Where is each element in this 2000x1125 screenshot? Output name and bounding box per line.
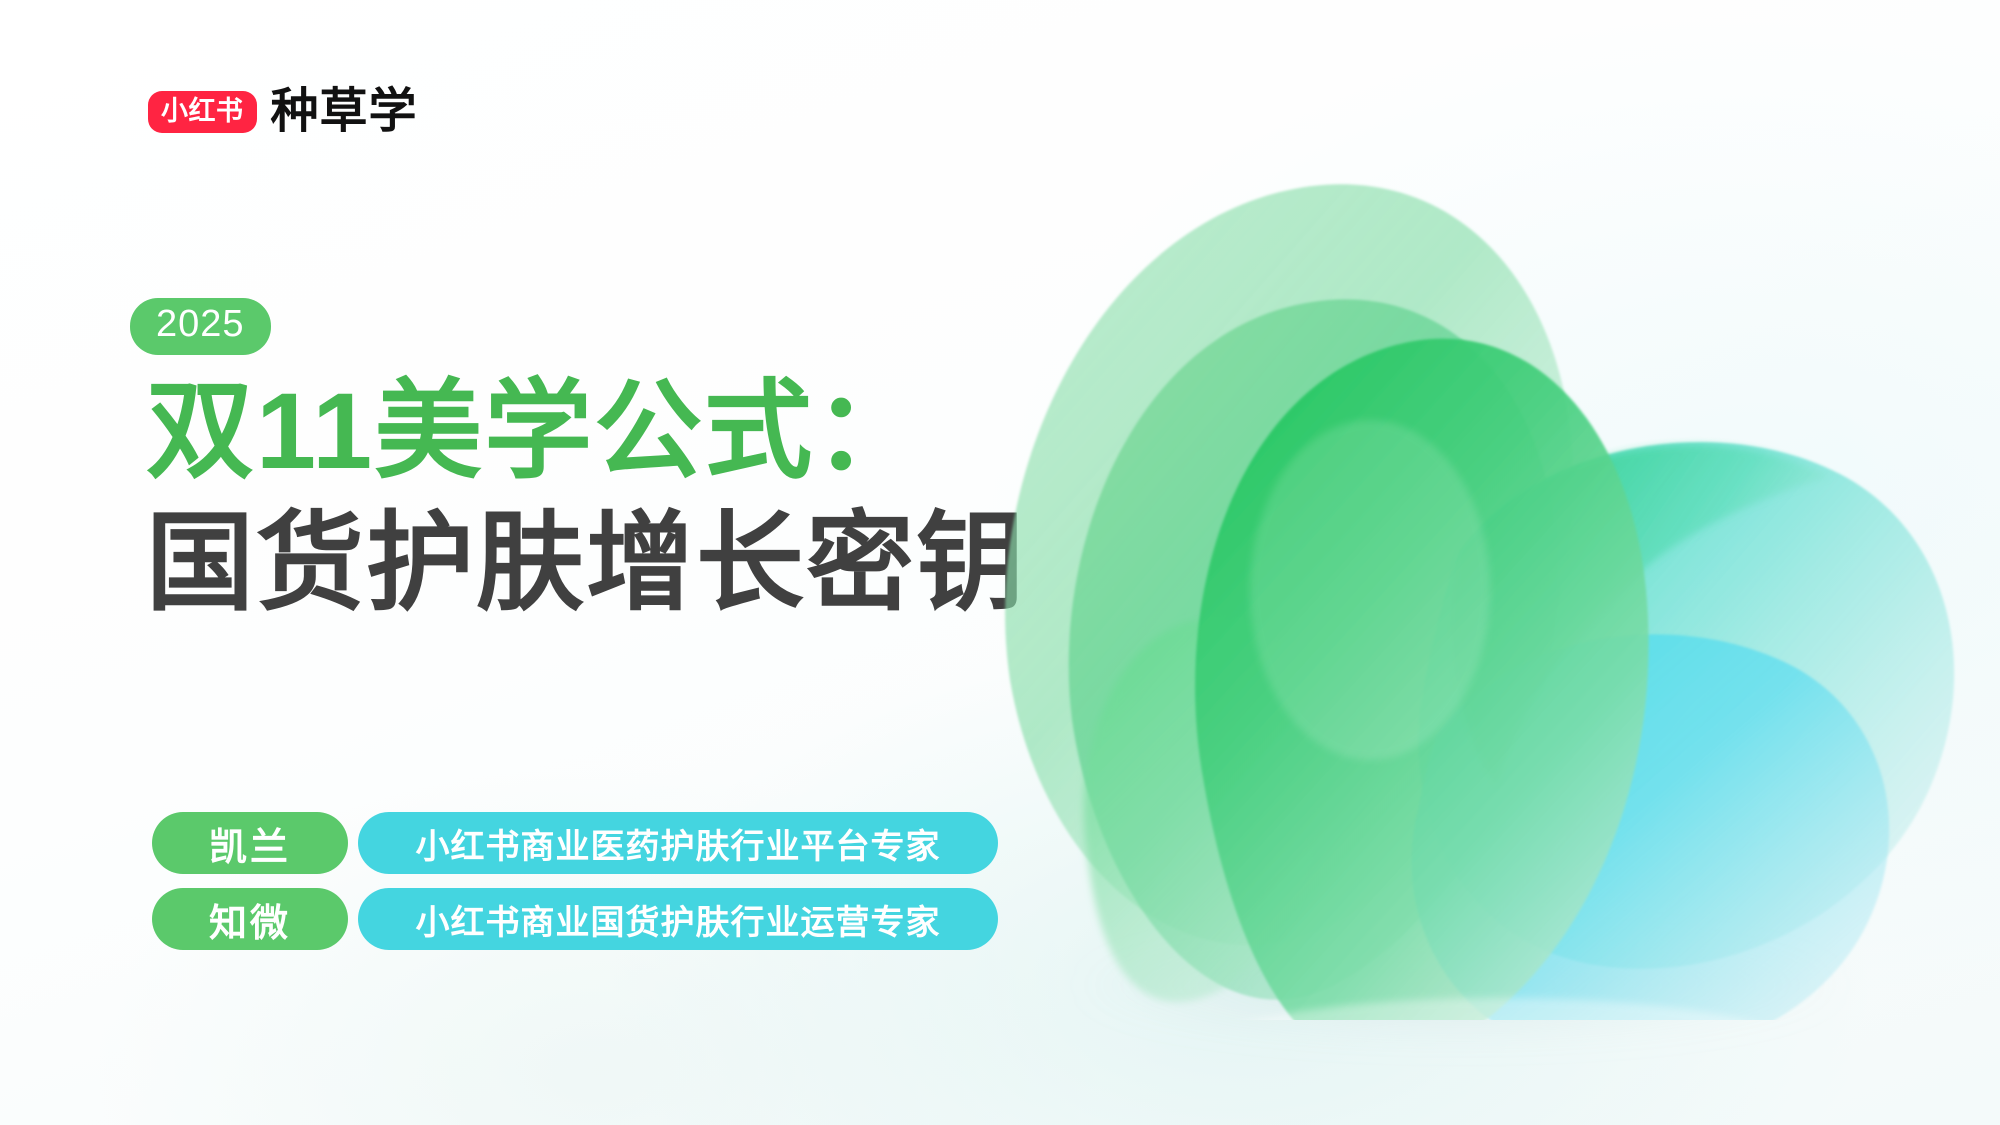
lobe-front-green (1195, 339, 1649, 1020)
speaker-name-badge: 知微 (152, 888, 348, 950)
graphic-ground-shadow (1080, 930, 1840, 1040)
lobe-lower-accent (1084, 617, 1322, 1002)
title-line-primary: 双11美学公式： (146, 365, 1146, 497)
year-badge: 2025 (130, 298, 271, 355)
lobe-right-cyan (1412, 634, 1890, 1020)
speaker-row: 凯兰 小红书商业医药护肤行业平台专家 (152, 812, 998, 874)
speaker-list: 凯兰 小红书商业医药护肤行业平台专家 知微 小红书商业国货护肤行业运营专家 (152, 812, 998, 950)
xiaohongshu-badge-icon: 小红书 (148, 91, 257, 133)
speaker-name-badge: 凯兰 (152, 812, 348, 874)
brand-wordmark: 种草学 (271, 88, 418, 136)
graphic-bottom-glow (1200, 998, 1800, 1020)
lobe-right-rim (1452, 445, 1830, 788)
page-title: 双11美学公式： 国货护肤增长密钥 (146, 365, 1146, 629)
presentation-cover-slide: 小红书 种草学 2025 双11美学公式： 国货护肤增长密钥 凯兰 小红书商业医… (0, 0, 2000, 1125)
speaker-role-badge: 小红书商业医药护肤行业平台专家 (358, 812, 998, 874)
title-line-secondary: 国货护肤增长密钥 (146, 497, 1146, 629)
speaker-row: 知微 小红书商业国货护肤行业运营专家 (152, 888, 998, 950)
lobe-right-teal (1419, 442, 1955, 969)
brand-logo: 小红书 种草学 (148, 88, 418, 136)
lobe-front-highlight (1250, 420, 1490, 760)
speaker-role-badge: 小红书商业国货护肤行业运营专家 (358, 888, 998, 950)
